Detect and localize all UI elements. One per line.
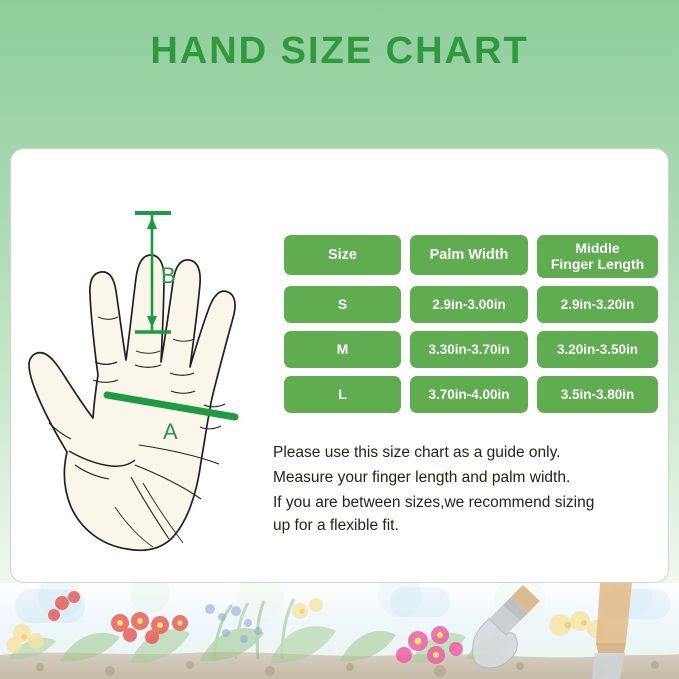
column-header-size: Size (284, 235, 401, 275)
label-a: A (163, 419, 178, 444)
note-line-1: Please use this size chart as a guide on… (273, 441, 665, 465)
cell-palm-width: 3.70in-4.00in (410, 376, 528, 413)
hand-measurement-illustration: B A (23, 177, 285, 577)
size-table: Size Palm Width Middle Finger Length S 2… (284, 235, 659, 421)
table-row: S 2.9in-3.00in 2.9in-3.20in (284, 286, 659, 323)
table-row: L 3.70in-4.00in 3.5in-3.80in (284, 376, 659, 413)
label-b: B (161, 263, 176, 288)
garden-flowers-and-trowel-photo (0, 583, 679, 679)
cell-middle-finger-length: 3.20in-3.50in (537, 331, 658, 368)
content-card: B A Size Palm Width Middle Finger Length (10, 148, 669, 583)
sizing-notes: Please use this size chart as a guide on… (273, 441, 665, 539)
cell-palm-width: 2.9in-3.00in (410, 286, 528, 323)
table-header-row: Size Palm Width Middle Finger Length (284, 235, 659, 278)
cell-size: L (284, 376, 401, 413)
cell-middle-finger-length: 2.9in-3.20in (537, 286, 658, 323)
note-line-4: up for a flexible fit. (273, 515, 665, 537)
note-line-2: Measure your finger length and palm widt… (273, 466, 665, 490)
page-title: HAND SIZE CHART (0, 30, 679, 73)
note-line-3: If you are between sizes,we recommend si… (273, 492, 665, 514)
column-header-palm-width: Palm Width (410, 235, 528, 275)
column-header-middle-finger-length: Middle Finger Length (537, 235, 658, 278)
cell-size: M (284, 331, 401, 368)
cell-middle-finger-length: 3.5in-3.80in (537, 376, 658, 413)
header-line-1: Middle (575, 240, 619, 256)
header-line-2: Finger Length (551, 256, 644, 272)
cell-palm-width: 3.30in-3.70in (410, 331, 528, 368)
column-header-middle-finger-length-text: Middle Finger Length (551, 241, 644, 272)
cell-size: S (284, 286, 401, 323)
table-row: M 3.30in-3.70in 3.20in-3.50in (284, 331, 659, 368)
hand-size-chart-page: HAND SIZE CHART (0, 0, 679, 679)
